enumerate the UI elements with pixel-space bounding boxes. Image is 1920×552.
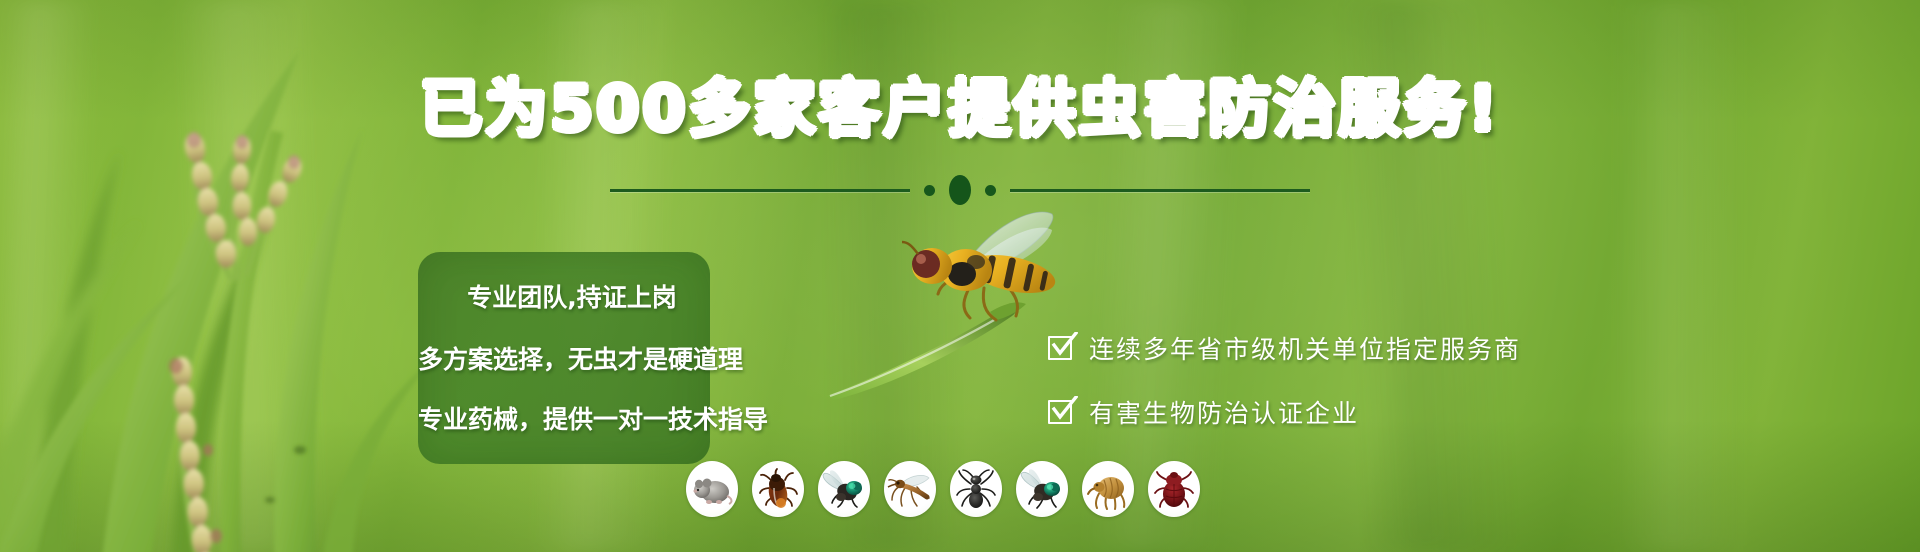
certification-checklist: 连续多年省市级机关单位指定服务商 有害生物防治认证企业 — [1048, 330, 1521, 430]
divider-dot-large-icon — [949, 175, 971, 205]
mosquito-icon[interactable] — [884, 461, 936, 517]
divider-line-left — [610, 189, 910, 192]
checkbox-checked-icon — [1048, 334, 1076, 362]
divider-line-right — [1010, 189, 1310, 192]
decorative-divider — [0, 176, 1920, 204]
slogan-card: 专业团队,持证上岗 多方案选择，无虫才是硬道理 专业药械，提供一对一技术指导 — [418, 252, 710, 464]
checklist-text: 连续多年省市级机关单位指定服务商 — [1089, 330, 1521, 366]
ant-icon[interactable] — [950, 461, 1002, 517]
pest-control-hero-banner: 已为500多家客户提供虫害防治服务! — [0, 0, 1920, 552]
housefly-icon[interactable] — [1016, 461, 1068, 517]
divider-dot-small-right-icon — [985, 185, 996, 196]
page-title: 已为500多家客户提供虫害防治服务! — [0, 78, 1920, 140]
checkbox-checked-icon — [1048, 398, 1076, 426]
bedbug-icon[interactable] — [1148, 461, 1200, 517]
headline-text: 已为500多家客户提供虫害防治服务! — [420, 72, 1500, 145]
checklist-text: 有害生物防治认证企业 — [1089, 394, 1359, 430]
blowfly-icon[interactable] — [818, 461, 870, 517]
slogan-line-3: 专业药械，提供一对一技术指导 — [418, 400, 710, 436]
pest-type-icon-strip — [686, 461, 1200, 517]
flea-icon[interactable] — [1082, 461, 1134, 517]
slogan-line-1: 专业团队,持证上岗 — [434, 278, 710, 314]
list-item: 连续多年省市级机关单位指定服务商 — [1048, 330, 1521, 366]
divider-dot-small-left-icon — [924, 185, 935, 196]
list-item: 有害生物防治认证企业 — [1048, 394, 1521, 430]
slogan-line-2: 多方案选择，无虫才是硬道理 — [418, 340, 710, 376]
cockroach-icon[interactable] — [752, 461, 804, 517]
rat-icon[interactable] — [686, 461, 738, 517]
